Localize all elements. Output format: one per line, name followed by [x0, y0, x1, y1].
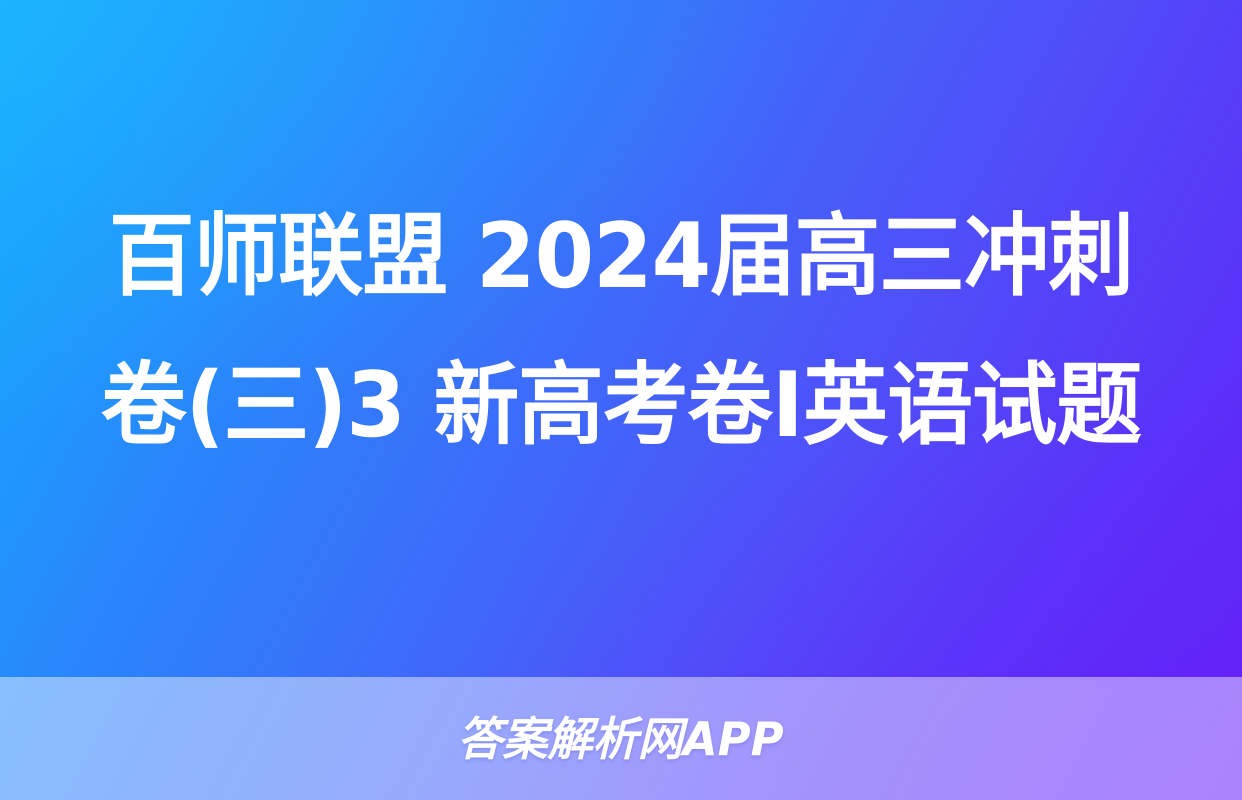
- headline-area: 百师联盟 2024届高三冲刺卷(三)3 新高考卷Ⅰ英语试题: [0, 182, 1242, 480]
- page-title: 百师联盟 2024届高三冲刺卷(三)3 新高考卷Ⅰ英语试题: [94, 182, 1149, 480]
- watermark-band: 答案解析网APP: [0, 677, 1242, 800]
- watermark-text: 答案解析网APP: [458, 716, 784, 762]
- exam-paper-title-poster: 百师联盟 2024届高三冲刺卷(三)3 新高考卷Ⅰ英语试题 答案解析网APP: [0, 0, 1242, 800]
